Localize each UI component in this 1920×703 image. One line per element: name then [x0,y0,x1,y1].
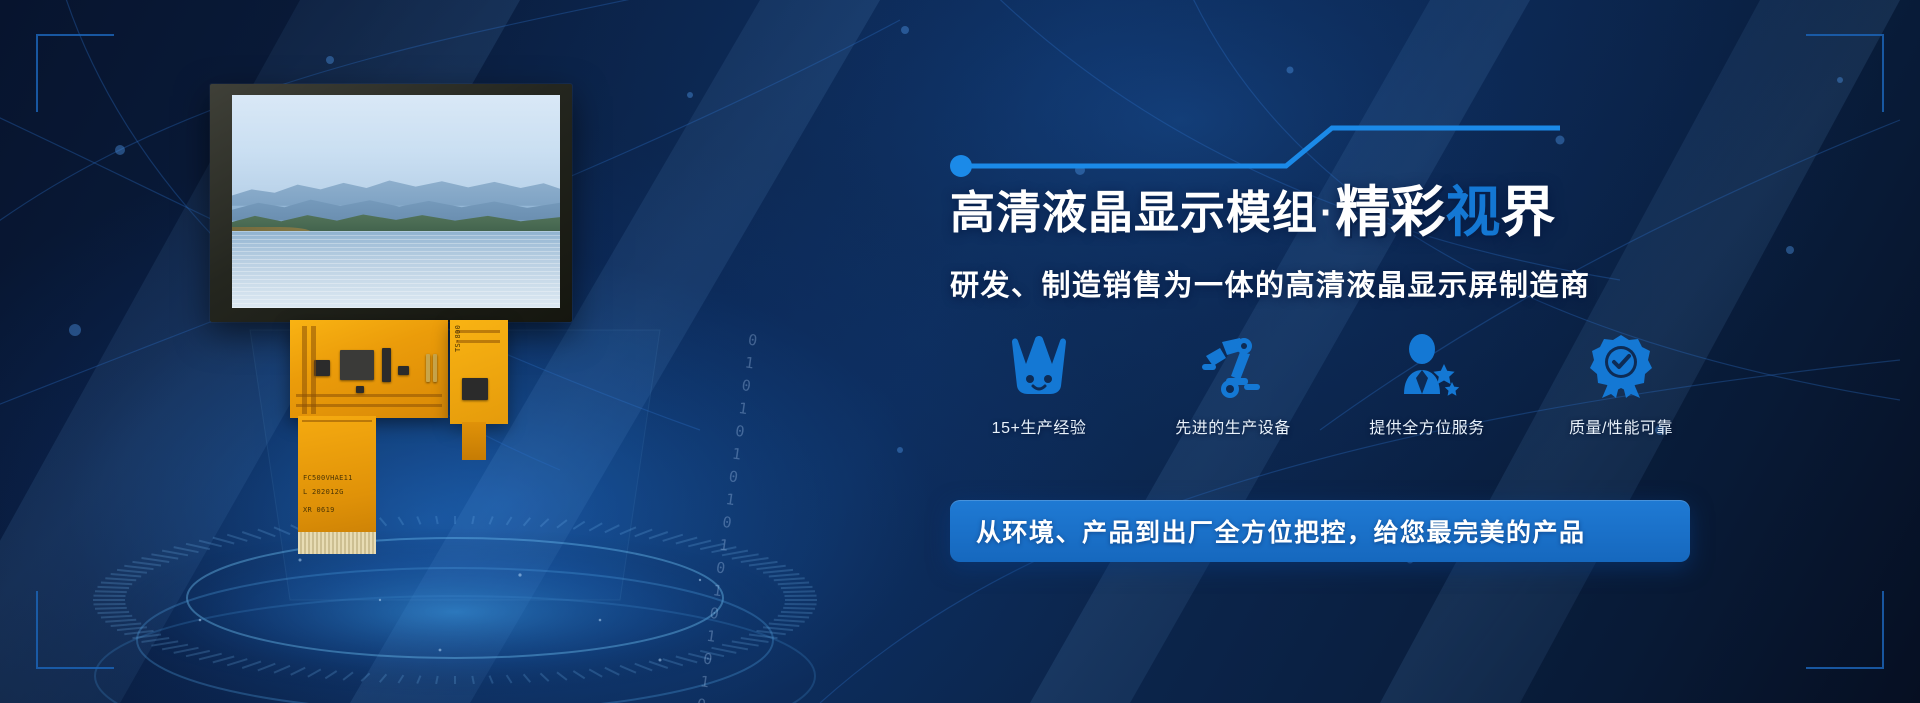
feature-item-service: 提供全方位服务 [1338,326,1516,438]
fpc-main-board [290,320,448,418]
feature-label-equipment: 先进的生产设备 [1175,414,1291,438]
feature-label-quality: 质量/性能可靠 [1569,414,1673,438]
fpc-side-trace-2 [456,340,500,343]
deco-line-path [961,128,1558,166]
flex-circuit-board: TS-800 FC500VHAE11 L 202012G XR 0619 [290,320,520,480]
quality-badge-icon-glyph [1588,334,1654,398]
lcd-panel-bezel [210,84,572,322]
headline-accent-prefix: 精彩 [1335,181,1445,243]
fpc-driver-ic [340,350,374,380]
fpc-trace-2 [311,326,316,414]
binary-digits-strip: 010101010101010101010 [678,330,763,703]
headline-accent: 精彩视界 [1335,181,1555,243]
headline-decorative-line [950,122,1560,182]
feature-item-experience: 15+生产经验 [950,326,1128,438]
fpc-label-model: FC500VHAE11 [303,474,353,482]
fpc-connector-pads [426,354,430,382]
feature-label-experience: 15+生产经验 [992,414,1087,438]
robot-arm-icon [1200,326,1266,398]
feature-list: 15+生产经验 [950,326,1710,438]
fpc-trace-3 [296,394,442,397]
service-person-icon-glyph [1394,334,1460,398]
fpc-side-ic [462,378,488,400]
page-subtitle: 研发、制造销售为一体的高清液晶显示屏制造商 [950,262,1770,304]
fpc-trace-4 [296,404,442,407]
crown-icon-glyph [1006,334,1072,398]
fpc-chip-small-4 [356,386,364,393]
fpc-label-batch: L 202012G [303,488,344,496]
fpc-trace-1 [302,326,307,414]
lcd-display-module: TS-800 FC500VHAE11 L 202012G XR 0619 [210,84,570,504]
fpc-gold-contacts [298,532,376,554]
headline-separator: · [1318,191,1335,235]
banner-content: 高清液晶显示模组·精彩视界 研发、制造销售为一体的高清液晶显示屏制造商 15+生… [950,0,1850,703]
fpc-side-board: TS-800 [450,320,508,424]
corner-bracket-bottom-left [36,591,114,669]
fpc-chip-small-1 [314,360,330,376]
cta-text: 从环境、产品到出厂全方位把控，给您最完美的产品 [950,513,1586,549]
fpc-label-rev: XR 0619 [303,506,335,514]
corner-bracket-top-left [36,34,114,112]
fpc-connector-pads-2 [433,354,437,382]
service-person-icon [1394,326,1460,398]
lcd-screen [232,95,560,308]
headline-primary: 高清液晶显示模组 [950,187,1318,238]
screen-lake-water [232,231,560,308]
robot-arm-icon-glyph [1200,334,1266,398]
fpc-side-tail [462,422,486,460]
page-title: 高清液晶显示模组·精彩视界 [950,185,1770,240]
quality-badge-icon [1588,326,1654,398]
cta-banner[interactable]: 从环境、产品到出厂全方位把控，给您最完美的产品 [950,500,1690,562]
screen-sky [232,95,560,197]
fpc-side-trace-1 [456,330,500,333]
feature-item-equipment: 先进的生产设备 [1144,326,1322,438]
fpc-side-text: TS-800 [454,325,462,352]
crown-icon [1006,326,1072,398]
feature-item-quality: 质量/性能可靠 [1532,326,1710,438]
headline-accent-suffix: 界 [1500,181,1555,243]
fpc-chip-small-3 [398,366,409,375]
headline-accent-highlight: 视 [1445,181,1500,243]
promo-banner: 010101010101010101010 [0,0,1920,703]
fpc-chip-small-2 [382,348,391,382]
fpc-tail-trace [302,420,372,422]
feature-label-service: 提供全方位服务 [1369,414,1485,438]
